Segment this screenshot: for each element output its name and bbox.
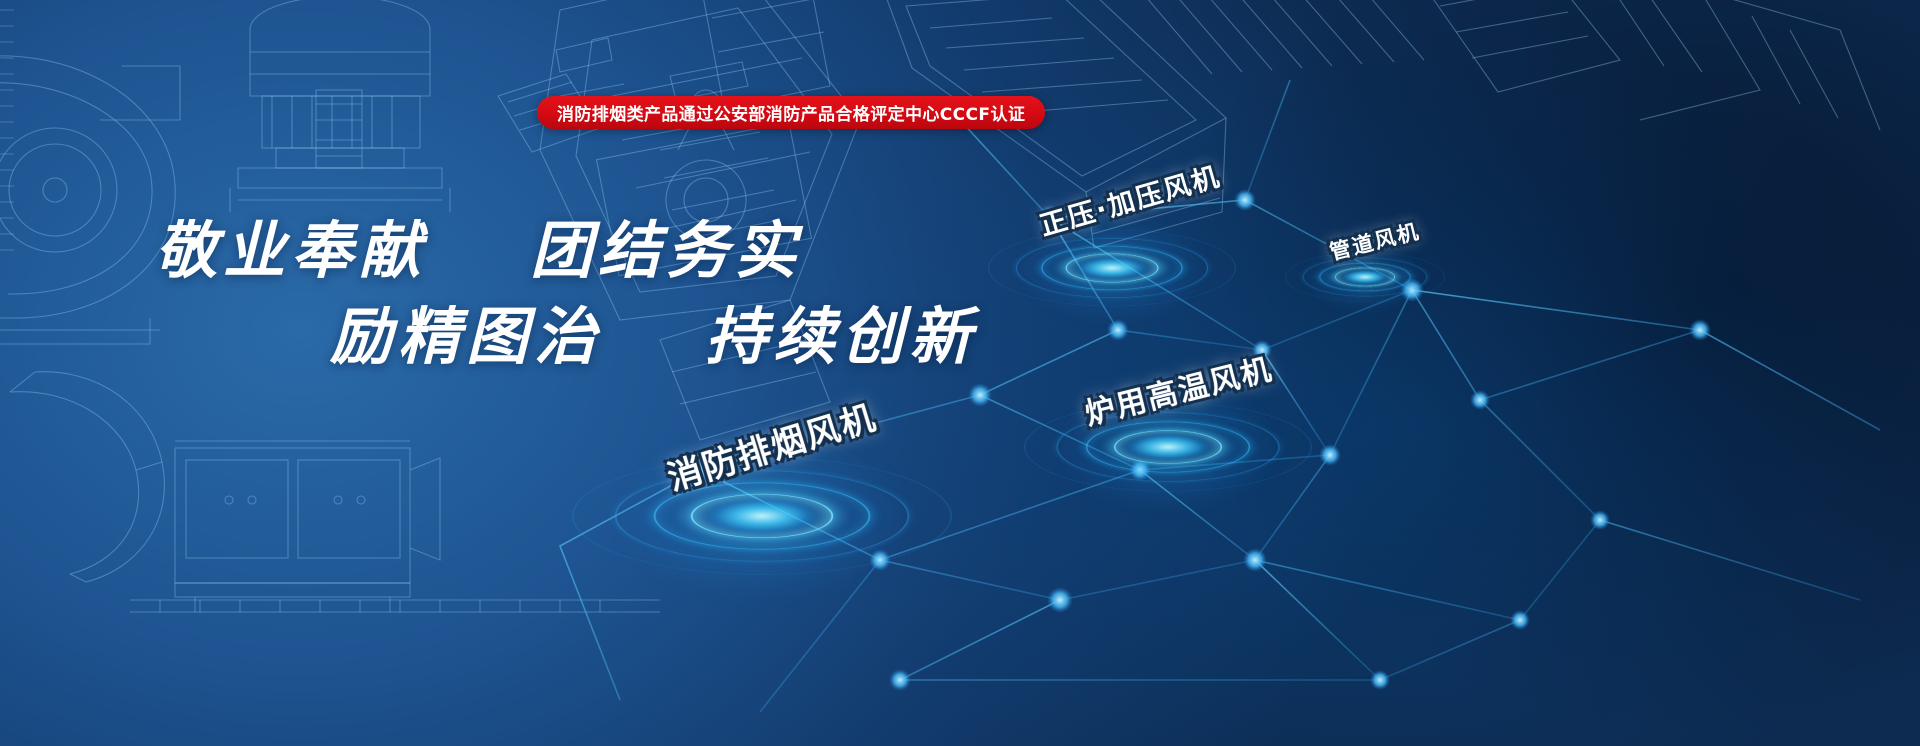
hero-banner: 正压·加压风机 管道风机 炉用高温风机 消防排烟风机 消防排烟类产品通过公安部消… — [0, 0, 1920, 746]
slogan-block: 敬业奉献 团结务实 励精图治 持续创新 — [155, 208, 915, 379]
slogan-line1-part1: 敬业奉献 — [155, 214, 427, 287]
certification-badge-text: 消防排烟类产品通过公安部消防产品合格评定中心CCCF认证 — [557, 100, 1025, 125]
slogan-line-2: 励精图治 持续创新 — [330, 294, 915, 380]
slogan-line-1: 敬业奉献 团结务实 — [155, 208, 915, 294]
slogan-line2-part2: 持续创新 — [705, 300, 977, 373]
slogan-line1-part2: 团结务实 — [530, 214, 802, 287]
slogan-line2-part1: 励精图治 — [330, 300, 602, 373]
certification-badge: 消防排烟类产品通过公安部消防产品合格评定中心CCCF认证 — [537, 96, 1045, 129]
